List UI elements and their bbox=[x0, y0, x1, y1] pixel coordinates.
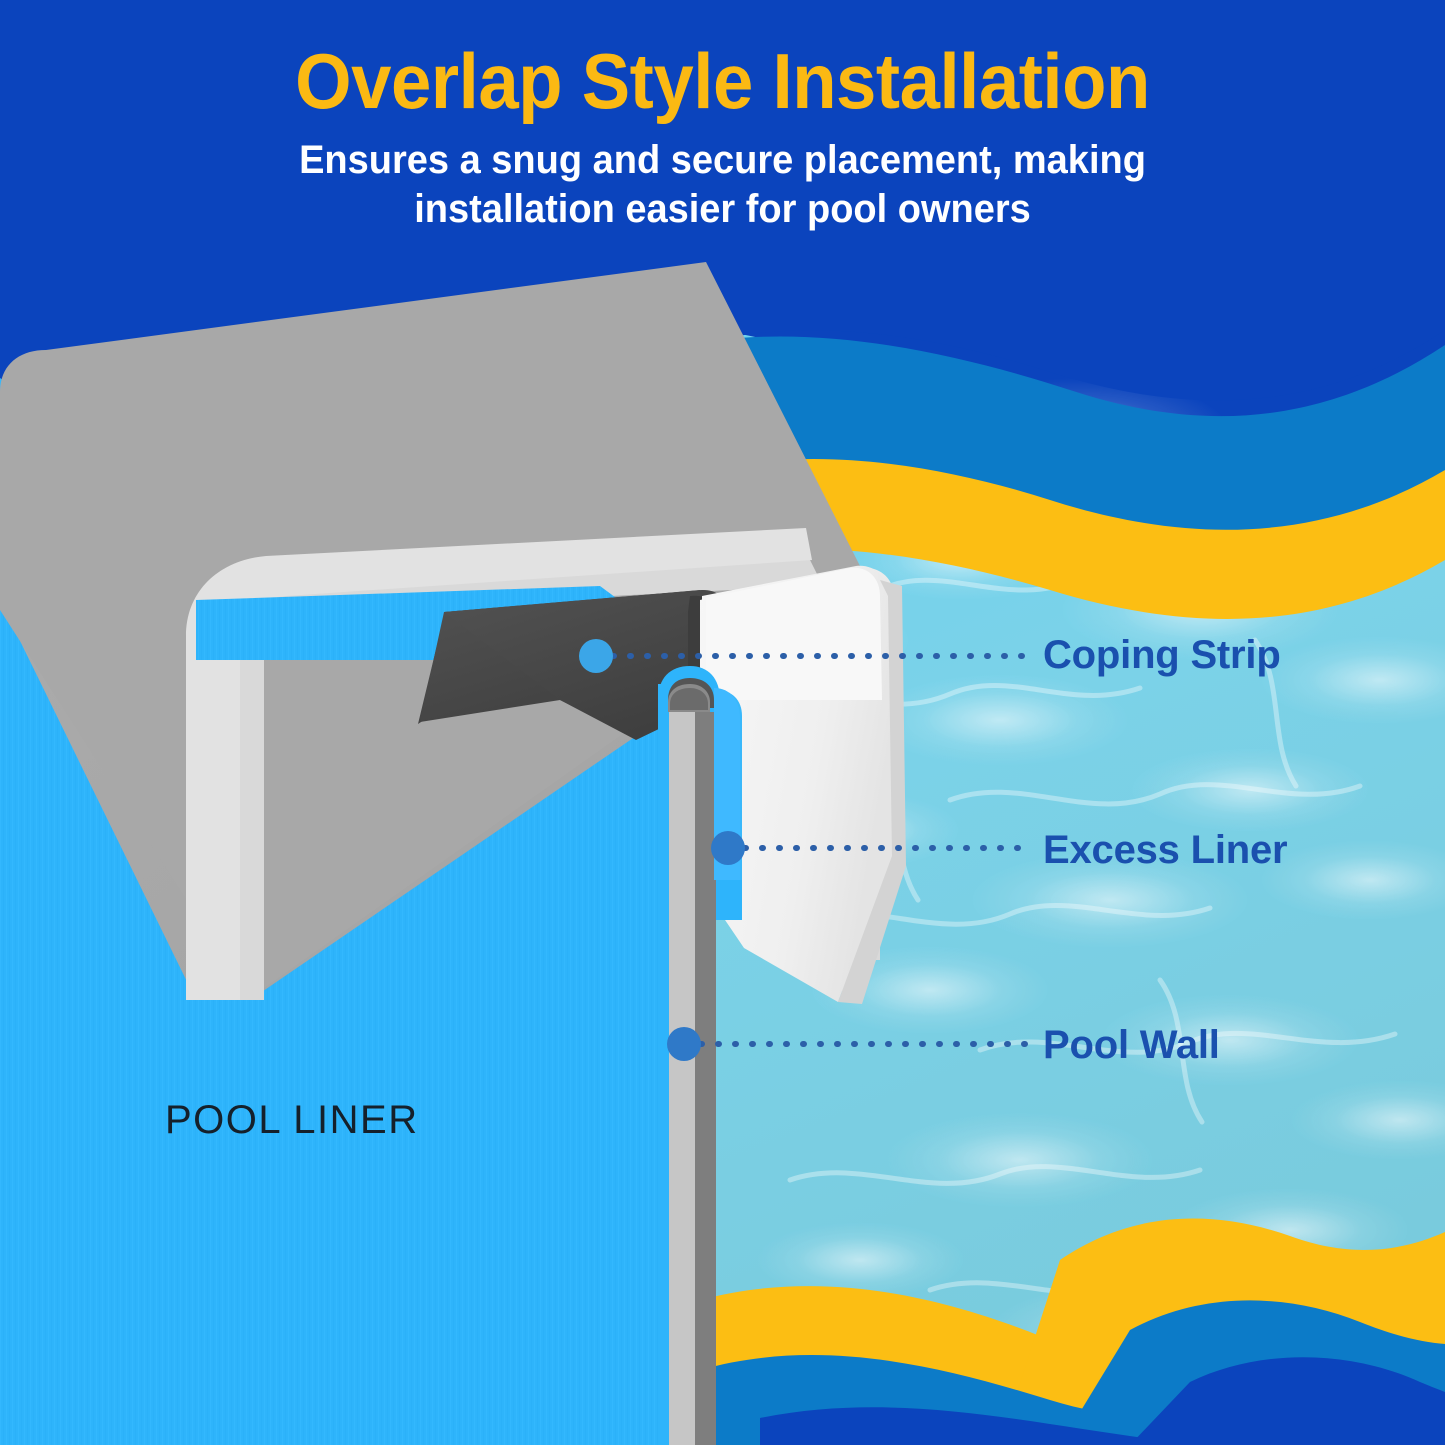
infographic-canvas: Overlap Style Installation Ensures a snu… bbox=[0, 0, 1445, 1445]
page-subtitle: Ensures a snug and secure placement, mak… bbox=[36, 120, 1409, 234]
marker-pool-wall bbox=[667, 1027, 701, 1061]
marker-excess-liner bbox=[711, 831, 745, 865]
subtitle-line-1: Ensures a snug and secure placement, mak… bbox=[299, 138, 1146, 182]
callout-label-excess-liner: Excess Liner bbox=[1043, 828, 1287, 873]
page-title: Overlap Style Installation bbox=[51, 0, 1395, 120]
callout-label-pool-wall: Pool Wall bbox=[1043, 1023, 1220, 1068]
callout-label-coping-strip: Coping Strip bbox=[1043, 633, 1281, 678]
subtitle-line-2: installation easier for pool owners bbox=[414, 187, 1031, 231]
header-block: Overlap Style Installation Ensures a snu… bbox=[0, 0, 1445, 234]
inline-label-pool-liner: POOL LINER bbox=[165, 1098, 419, 1143]
marker-coping-strip bbox=[579, 639, 613, 673]
